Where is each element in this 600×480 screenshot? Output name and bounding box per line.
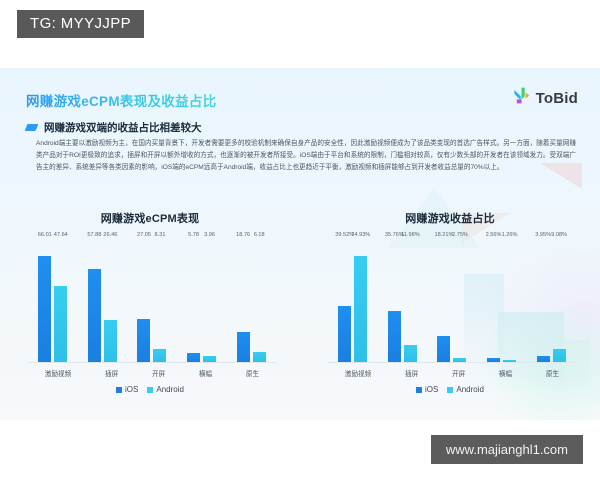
- legend-item-ios[interactable]: iOS: [416, 385, 438, 394]
- chart-legend: iOSAndroid: [0, 385, 300, 394]
- chart-ecpm: 网赚游戏eCPM表现 66.0147.6457.8826.4627.058.31…: [0, 208, 300, 408]
- bar-android: [104, 320, 117, 362]
- bar-group: 57.8826.46: [88, 240, 117, 362]
- paragraph-text: Android端主要以激励视频为主，在国内买量背景下，开发者需要更多的校验机制来…: [36, 138, 576, 174]
- bar-column: 27.05: [137, 240, 150, 362]
- chart-plot-area: 66.0147.6457.8826.4627.058.315.783.9618.…: [28, 240, 276, 363]
- bar-value-label: 3.95%: [535, 232, 551, 238]
- bar-android: [453, 358, 466, 362]
- site-watermark: www.majianghl1.com: [431, 435, 583, 464]
- body-paragraph: Android端主要以激励视频为主，在国内买量背景下，开发者需要更多的校验机制来…: [36, 138, 576, 174]
- bar-group: 5.783.96: [187, 240, 216, 362]
- bar-groups: 66.0147.6457.8826.4627.058.315.783.9618.…: [28, 240, 276, 362]
- bar-column: 11.98%: [404, 240, 417, 362]
- bar-ios: [487, 358, 500, 362]
- bar-value-label: 9.08%: [551, 232, 567, 238]
- bar-group: 66.0147.64: [38, 240, 67, 362]
- legend-swatch-icon: [447, 387, 453, 393]
- chart-x-axis: 激励视频插屏开屏横幅原生: [328, 363, 576, 378]
- bar-column: 2.75%: [453, 240, 466, 362]
- bar-ios: [437, 336, 450, 362]
- bar-ios: [237, 332, 250, 362]
- bar-value-label: 3.96: [204, 232, 215, 238]
- x-axis-tick-label: 横幅: [199, 368, 212, 378]
- bar-value-label: 74.93%: [351, 232, 370, 238]
- bar-value-label: 18.76: [236, 232, 250, 238]
- bar-column: 8.31: [153, 240, 166, 362]
- bar-ios: [338, 306, 351, 362]
- bar-ios: [88, 269, 101, 362]
- x-axis-tick-label: 插屏: [405, 368, 418, 378]
- bar-value-label: 2.56%: [486, 232, 502, 238]
- legend-item-android[interactable]: Android: [447, 385, 484, 394]
- bar-android: [253, 352, 266, 362]
- bar-android: [553, 349, 566, 362]
- bar-ios: [187, 353, 200, 362]
- bar-groups: 39.52%74.93%35.76%11.98%18.21%2.75%2.56%…: [328, 240, 576, 362]
- page-title: 网赚游戏eCPM表现及收益占比: [26, 90, 217, 110]
- bar-value-label: 1.26%: [502, 232, 518, 238]
- bar-android: [54, 286, 67, 363]
- bar-group: 35.76%11.98%: [388, 240, 417, 362]
- x-axis-tick-label: 横幅: [499, 368, 512, 378]
- bar-value-label: 6.18: [254, 232, 265, 238]
- bar-column: 26.46: [104, 240, 117, 362]
- bar-column: 57.88: [88, 240, 101, 362]
- bar-value-label: 11.98%: [401, 232, 420, 238]
- bar-column: 3.95%: [537, 240, 550, 362]
- bar-value-label: 27.05: [137, 232, 151, 238]
- chart-revenue-share: 网赚游戏收益占比 39.52%74.93%35.76%11.98%18.21%2…: [300, 208, 600, 408]
- chart-plot-area: 39.52%74.93%35.76%11.98%18.21%2.75%2.56%…: [328, 240, 576, 363]
- bar-value-label: 57.88: [87, 232, 101, 238]
- bar-ios: [137, 319, 150, 362]
- bar-column: 3.96: [203, 240, 216, 362]
- bar-ios: [388, 311, 401, 362]
- bar-group: 39.52%74.93%: [338, 240, 367, 362]
- legend-item-android[interactable]: Android: [147, 385, 184, 394]
- legend-label: Android: [156, 385, 184, 394]
- bar-column: 9.08%: [553, 240, 566, 362]
- legend-label: iOS: [125, 385, 138, 394]
- bar-column: 74.93%: [354, 240, 367, 362]
- x-axis-tick-label: 开屏: [452, 368, 465, 378]
- charts-row: 网赚游戏eCPM表现 66.0147.6457.8826.4627.058.31…: [0, 208, 600, 408]
- bar-android: [153, 349, 166, 362]
- chart-x-axis: 激励视频插屏开屏横幅原生: [28, 363, 276, 378]
- bar-value-label: 66.01: [38, 232, 52, 238]
- slide-card: 网赚游戏eCPM表现及收益占比 ToBid 网赚游戏双端的收益占比相差较大 An…: [0, 68, 600, 420]
- tobid-logo-icon: [512, 86, 531, 110]
- subheading-text: 网赚游戏双端的收益占比相差较大: [44, 120, 202, 135]
- chart-title: 网赚游戏收益占比: [300, 210, 600, 226]
- bar-android: [503, 360, 516, 362]
- bar-group: 18.766.18: [237, 240, 266, 362]
- bar-android: [203, 356, 216, 362]
- bar-group: 18.21%2.75%: [437, 240, 466, 362]
- bar-value-label: 47.64: [54, 232, 68, 238]
- bar-group: 27.058.31: [137, 240, 166, 362]
- bar-value-label: 26.46: [103, 232, 117, 238]
- bar-android: [404, 345, 417, 362]
- bar-column: 5.78: [187, 240, 200, 362]
- bar-column: 18.21%: [437, 240, 450, 362]
- bar-ios: [537, 356, 550, 362]
- x-axis-tick-label: 激励视频: [45, 368, 71, 378]
- bar-value-label: 5.78: [188, 232, 199, 238]
- bar-column: 1.26%: [503, 240, 516, 362]
- bar-group: 2.56%1.26%: [487, 240, 516, 362]
- bar-value-label: 18.21%: [434, 232, 453, 238]
- x-axis-tick-label: 激励视频: [345, 368, 371, 378]
- bar-column: 2.56%: [487, 240, 500, 362]
- bar-column: 35.76%: [388, 240, 401, 362]
- bar-column: 18.76: [237, 240, 250, 362]
- tg-watermark-badge: TG: MYYJJPP: [17, 10, 144, 38]
- bar-column: 39.52%: [338, 240, 351, 362]
- bar-android: [354, 256, 367, 362]
- legend-swatch-icon: [416, 387, 422, 393]
- bar-column: 66.01: [38, 240, 51, 362]
- bar-group: 3.95%9.08%: [537, 240, 566, 362]
- legend-label: iOS: [425, 385, 438, 394]
- legend-swatch-icon: [116, 387, 122, 393]
- x-axis-tick-label: 原生: [546, 368, 559, 378]
- brand-name: ToBid: [536, 90, 578, 107]
- subheading: 网赚游戏双端的收益占比相差较大: [26, 120, 202, 135]
- legend-item-ios[interactable]: iOS: [116, 385, 138, 394]
- blue-parallelogram-bullet-icon: [25, 124, 39, 131]
- bar-column: 6.18: [253, 240, 266, 362]
- bar-ios: [38, 256, 51, 362]
- chart-legend: iOSAndroid: [300, 385, 600, 394]
- brand-logo: ToBid: [512, 86, 578, 110]
- legend-label: Android: [456, 385, 484, 394]
- bar-column: 47.64: [54, 240, 67, 362]
- chart-title: 网赚游戏eCPM表现: [0, 210, 300, 226]
- x-axis-tick-label: 开屏: [152, 368, 165, 378]
- bar-value-label: 8.31: [155, 232, 166, 238]
- x-axis-tick-label: 插屏: [105, 368, 118, 378]
- x-axis-tick-label: 原生: [246, 368, 259, 378]
- legend-swatch-icon: [147, 387, 153, 393]
- bar-value-label: 2.75%: [452, 232, 468, 238]
